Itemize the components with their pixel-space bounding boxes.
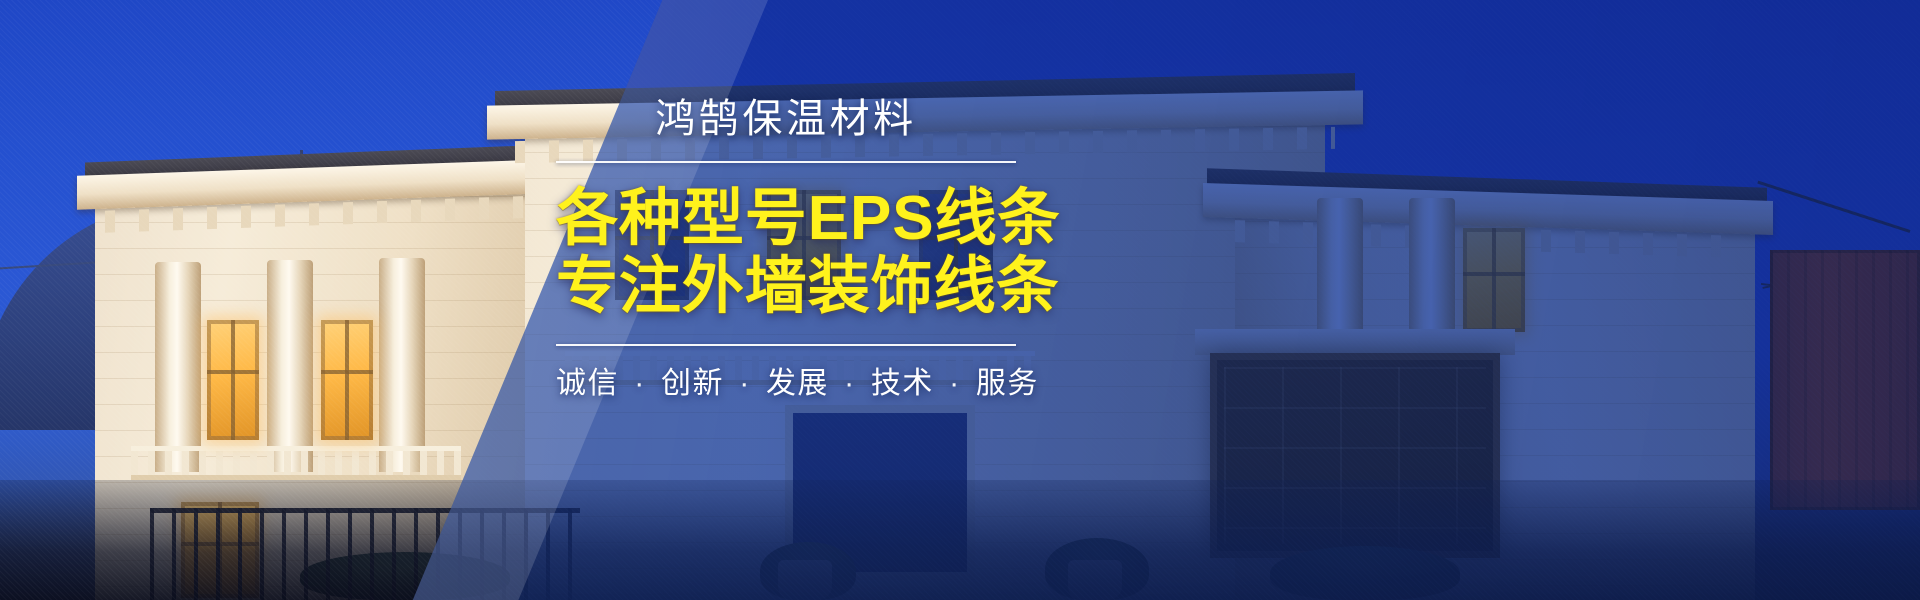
- tagline-item-4: 技术: [871, 367, 934, 400]
- column: [379, 258, 425, 472]
- tagline-separator: ·: [734, 367, 756, 400]
- tagline-item-5: 服务: [976, 367, 1039, 400]
- promo-banner: 鸿鹄保温材料 各种型号EPS线条 专注外墙装饰线条 诚信 · 创新 · 发展 ·…: [0, 0, 1920, 600]
- banner-copy: 鸿鹄保温材料 各种型号EPS线条 专注外墙装饰线条 诚信 · 创新 · 发展 ·…: [556, 96, 1016, 402]
- divider-bottom: [556, 344, 1016, 346]
- lit-window: [207, 320, 259, 440]
- divider-top: [556, 161, 1016, 163]
- headline-line-2: 专注外墙装饰线条: [556, 253, 1016, 321]
- balustrade: [131, 446, 461, 480]
- brand-name: 鸿鹄保温材料: [556, 96, 1016, 143]
- tagline-separator: ·: [839, 367, 861, 400]
- tagline: 诚信 · 创新 · 发展 · 技术 · 服务: [556, 366, 1016, 402]
- column: [155, 262, 201, 472]
- tagline-item-1: 诚信: [556, 367, 619, 400]
- column: [267, 260, 313, 472]
- tagline-separator: ·: [944, 367, 966, 400]
- headline: 各种型号EPS线条 专注外墙装饰线条: [556, 185, 1016, 321]
- tagline-item-2: 创新: [661, 367, 724, 400]
- tagline-separator: ·: [629, 367, 651, 400]
- lit-window: [321, 320, 373, 440]
- headline-line-1: 各种型号EPS线条: [556, 185, 1016, 253]
- tagline-item-3: 发展: [766, 367, 829, 400]
